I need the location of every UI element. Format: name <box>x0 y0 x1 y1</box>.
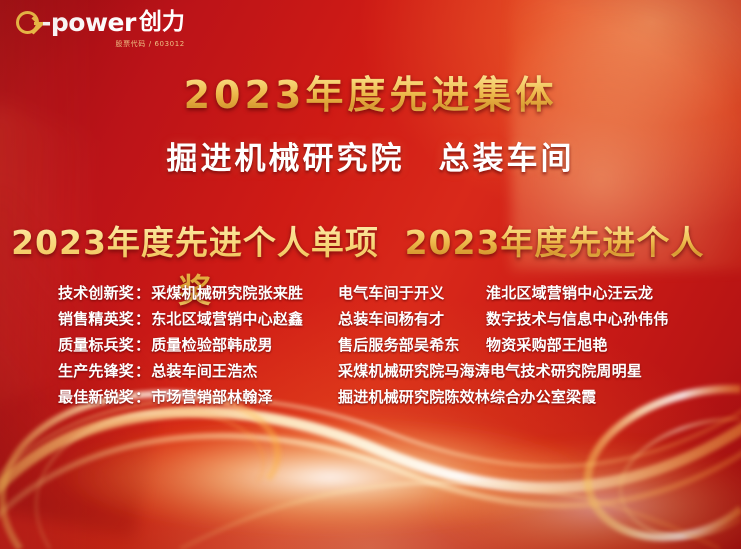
individual-name: 电气技术研究院周明星 <box>490 364 741 379</box>
award-name: 销售精英奖 <box>58 310 134 328</box>
list-item: 采煤机械研究院马海涛 电气技术研究院周明星 <box>338 364 741 379</box>
list-item: 生产先锋奖：总装车间王浩杰 <box>58 364 330 379</box>
award-separator: ： <box>135 310 150 328</box>
logo-wordmark-chinese: 创力 <box>139 11 185 34</box>
c-power-circle-icon <box>16 11 39 34</box>
award-name: 生产先锋奖 <box>58 362 134 380</box>
award-recipient: 总装车间王浩杰 <box>151 362 257 380</box>
award-separator: ： <box>135 388 150 406</box>
stock-code-label: 股票代码 / 603012 <box>16 39 185 49</box>
award-name: 质量标兵奖 <box>58 336 134 354</box>
individual-name: 采煤机械研究院马海涛 <box>338 364 490 379</box>
award-name: 最佳新锐奖 <box>58 388 134 406</box>
award-lists: 技术创新奖：采煤机械研究院张来胜 销售精英奖：东北区域营销中心赵鑫 质量标兵奖：… <box>0 286 741 416</box>
individual-name: 物资采购部王旭艳 <box>486 338 741 353</box>
page-title: 2023年度先进集体 <box>0 64 741 119</box>
individual-name: 综合办公室梁霞 <box>490 390 741 405</box>
award-separator: ： <box>135 284 150 302</box>
list-item: 最佳新锐奖：市场营销部林翰泽 <box>58 390 330 405</box>
section-heading-individuals: 2023年度先进个人 <box>390 216 741 264</box>
award-recipient: 质量检验部韩成男 <box>151 336 273 354</box>
page-subtitle: 掘进机械研究院 总装车间 <box>0 133 741 178</box>
individual-award-list: 电气车间于开义 淮北区域营销中心汪云龙 总装车间杨有才 数字技术与信息中心孙伟伟… <box>330 286 741 416</box>
award-recipient: 东北区域营销中心赵鑫 <box>151 310 303 328</box>
company-logo: -power 创力 股票代码 / 603012 <box>16 10 185 49</box>
award-poster: -power 创力 股票代码 / 603012 2023年度先进集体 掘进机械研… <box>0 0 741 549</box>
individual-name: 售后服务部吴希东 <box>338 338 486 353</box>
award-separator: ： <box>135 362 150 380</box>
logo-wordmark: -power <box>41 10 136 35</box>
list-item: 销售精英奖：东北区域营销中心赵鑫 <box>58 312 330 327</box>
individual-name: 数字技术与信息中心孙伟伟 <box>486 312 741 327</box>
individual-name: 电气车间于开义 <box>338 286 486 301</box>
list-item: 技术创新奖：采煤机械研究院张来胜 <box>58 286 330 301</box>
individual-name: 淮北区域营销中心汪云龙 <box>486 286 741 301</box>
list-item: 掘进机械研究院陈效林 综合办公室梁霞 <box>338 390 741 405</box>
single-award-list: 技术创新奖：采煤机械研究院张来胜 销售精英奖：东北区域营销中心赵鑫 质量标兵奖：… <box>0 286 330 416</box>
award-recipient: 市场营销部林翰泽 <box>151 388 273 406</box>
award-name: 技术创新奖 <box>58 284 134 302</box>
award-separator: ： <box>135 336 150 354</box>
list-item: 质量标兵奖：质量检验部韩成男 <box>58 338 330 353</box>
list-item: 总装车间杨有才 数字技术与信息中心孙伟伟 <box>338 312 741 327</box>
individual-name: 总装车间杨有才 <box>338 312 486 327</box>
list-item: 售后服务部吴希东 物资采购部王旭艳 <box>338 338 741 353</box>
individual-name: 掘进机械研究院陈效林 <box>338 390 490 405</box>
list-item: 电气车间于开义 淮北区域营销中心汪云龙 <box>338 286 741 301</box>
award-recipient: 采煤机械研究院张来胜 <box>151 284 303 302</box>
